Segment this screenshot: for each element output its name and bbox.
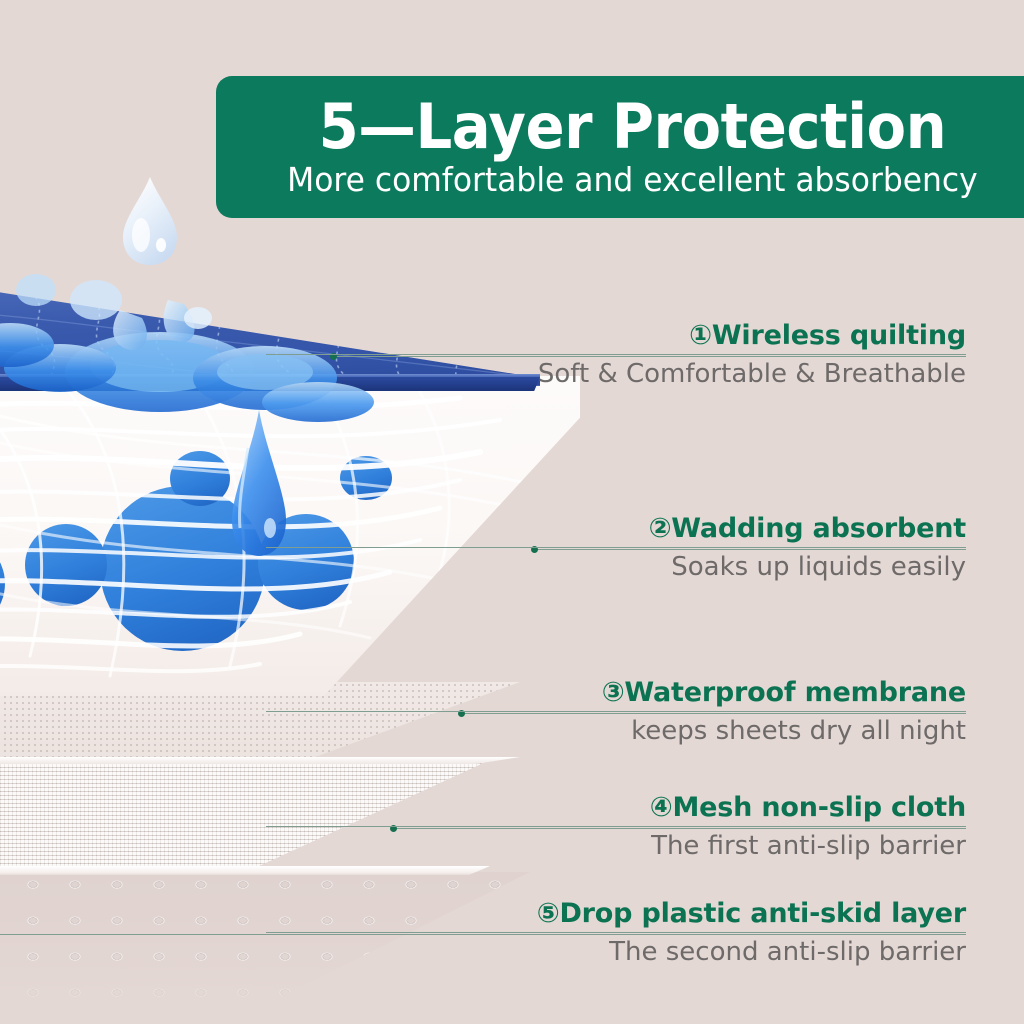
- feature-rule-3: [266, 711, 966, 712]
- water-droplet: [119, 175, 181, 267]
- feature-title-2: ②Wadding absorbent: [266, 513, 966, 544]
- product-infographic: 5—Layer Protection More comfortable and …: [0, 0, 1024, 1024]
- feature-number-1: ①: [689, 320, 712, 351]
- membrane-edge: [0, 757, 520, 764]
- feature-number-2: ②: [649, 513, 672, 544]
- header-banner: 5—Layer Protection More comfortable and …: [216, 76, 1024, 218]
- feature-desc-3: keeps sheets dry all night: [266, 714, 966, 747]
- feature-title-text-5: Drop plastic anti-skid layer: [559, 898, 966, 929]
- feature-label-4: ④Mesh non-slip cloth The first anti-slip…: [266, 792, 966, 862]
- feature-rule-1: [266, 354, 966, 355]
- feature-number-5: ⑤: [537, 898, 560, 929]
- banner-title: 5—Layer Protection: [318, 97, 946, 158]
- feature-rule-2: [266, 547, 966, 548]
- feature-title-text-1: Wireless quilting: [712, 320, 966, 351]
- feature-title-3: ③Waterproof membrane: [266, 677, 966, 708]
- banner-subtitle: More comfortable and excellent absorbenc…: [287, 162, 978, 199]
- feature-title-5: ⑤Drop plastic anti-skid layer: [266, 898, 966, 929]
- feature-number-4: ④: [650, 792, 673, 823]
- feature-title-text-4: Mesh non-slip cloth: [672, 792, 966, 823]
- feature-rule-5: [266, 932, 966, 933]
- feature-label-1: ①Wireless quilting Soft & Comfortable & …: [266, 320, 966, 390]
- feature-label-2: ②Wadding absorbent Soaks up liquids easi…: [266, 513, 966, 583]
- feature-title-text-3: Waterproof membrane: [624, 677, 966, 708]
- feature-title-4: ④Mesh non-slip cloth: [266, 792, 966, 823]
- feature-desc-4: The first anti-slip barrier: [266, 829, 966, 862]
- feature-label-5: ⑤Drop plastic anti-skid layer The second…: [266, 898, 966, 968]
- feature-desc-5: The second anti-slip barrier: [266, 935, 966, 968]
- feature-title-text-2: Wadding absorbent: [671, 513, 966, 544]
- feature-number-3: ③: [602, 677, 625, 708]
- feature-desc-2: Soaks up liquids easily: [266, 550, 966, 583]
- feature-rule-4: [266, 826, 966, 827]
- feature-title-1: ①Wireless quilting: [266, 320, 966, 351]
- mesh-cloth-edge: [0, 866, 490, 875]
- feature-desc-1: Soft & Comfortable & Breathable: [266, 357, 966, 390]
- feature-label-3: ③Waterproof membrane keeps sheets dry al…: [266, 677, 966, 747]
